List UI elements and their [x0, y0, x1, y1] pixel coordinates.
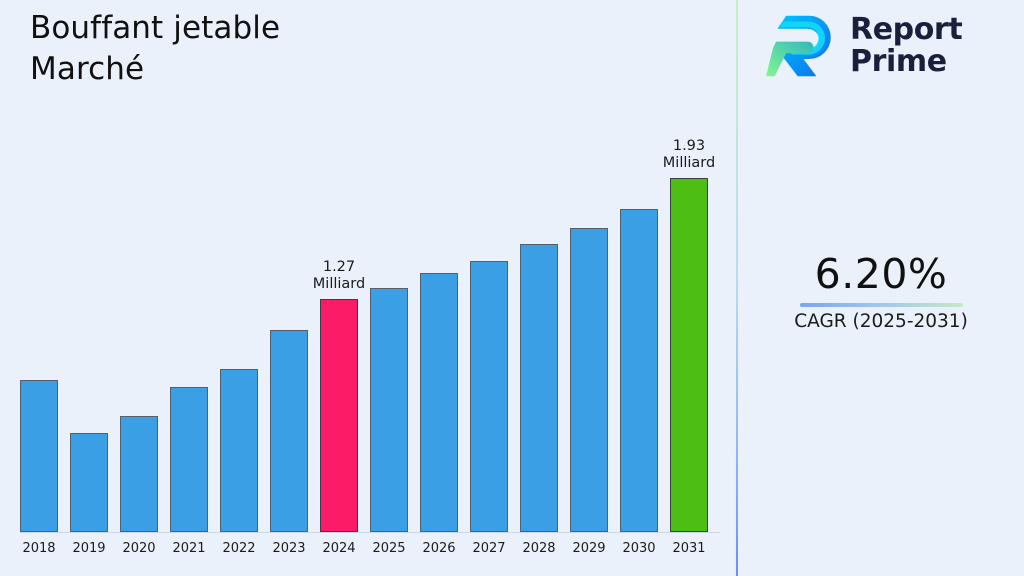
x-axis-tick-2020: 2020	[114, 541, 164, 556]
cagr-value: 6.20%	[738, 250, 1024, 298]
report-prime-logo-icon	[766, 10, 838, 82]
cagr-block: 6.20% CAGR (2025-2031)	[738, 250, 1024, 332]
x-axis-tick-2019: 2019	[64, 541, 114, 556]
brand-name: Report Prime	[850, 14, 962, 79]
bar-value-label-2031: 1.93 Milliard	[644, 138, 734, 172]
chart-panel: Bouffant jetable Marché 2018201920202021…	[0, 0, 737, 576]
bar-2028	[520, 244, 558, 532]
bar-chart-plot: 2018201920202021202220231.27 Milliard202…	[0, 0, 737, 576]
x-axis-tick-2022: 2022	[214, 541, 264, 556]
bar-2025	[370, 288, 408, 532]
x-axis-line	[20, 532, 720, 533]
bar-2029	[570, 228, 608, 532]
chart-screenshot: Bouffant jetable Marché 2018201920202021…	[0, 0, 1024, 576]
bar-2019	[70, 433, 108, 532]
bar-2018	[20, 380, 58, 532]
x-axis-tick-2024: 2024	[314, 541, 364, 556]
brand-logo: Report Prime	[766, 10, 962, 82]
cagr-divider	[800, 303, 963, 307]
x-axis-tick-2023: 2023	[264, 541, 314, 556]
bar-2024	[320, 299, 358, 532]
x-axis-tick-2030: 2030	[614, 541, 664, 556]
x-axis-tick-2031: 2031	[664, 541, 714, 556]
bar-2020	[120, 416, 158, 532]
x-axis-tick-2021: 2021	[164, 541, 214, 556]
x-axis-tick-2025: 2025	[364, 541, 414, 556]
cagr-caption: CAGR (2025-2031)	[738, 311, 1024, 332]
right-panel: Report Prime 6.20% CAGR (2025-2031)	[738, 0, 1024, 576]
x-axis-tick-2018: 2018	[14, 541, 64, 556]
bar-2030	[620, 209, 658, 532]
bar-2022	[220, 369, 258, 532]
x-axis-tick-2029: 2029	[564, 541, 614, 556]
bar-2027	[470, 261, 508, 532]
bar-2031	[670, 178, 708, 532]
bar-2021	[170, 387, 208, 532]
x-axis-tick-2027: 2027	[464, 541, 514, 556]
bar-2023	[270, 330, 308, 532]
bar-2026	[420, 273, 458, 532]
x-axis-tick-2026: 2026	[414, 541, 464, 556]
x-axis-tick-2028: 2028	[514, 541, 564, 556]
